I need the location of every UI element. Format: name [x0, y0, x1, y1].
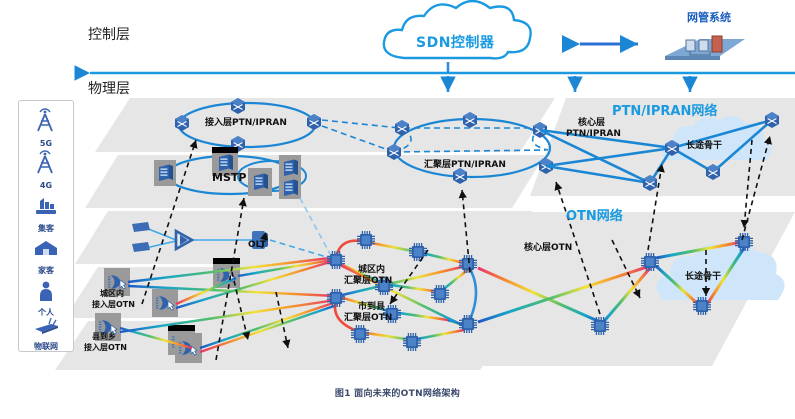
nms-server-icon — [665, 36, 745, 60]
iot-gateway-icon — [29, 315, 63, 337]
network-architecture-diagram — [0, 0, 795, 419]
figure-canvas: 控制层 物理层 SDN控制器 网管系统 PTN/IPRAN网络 OTN网络 接入… — [0, 0, 795, 419]
legend-item-enterprise[interactable]: 集客 — [19, 193, 73, 234]
legend-label-5g: 5G — [19, 139, 73, 148]
otn-access-urban-line1: 城区内 — [100, 290, 124, 299]
legend-item-home[interactable]: 家客 — [19, 237, 73, 276]
access-types-legend: 5G 4G 集客 家客 个人 — [18, 100, 74, 352]
ptn-aggregation-label: 汇聚层PTN/IPRAN — [424, 160, 506, 170]
mstp-label: MSTP — [212, 172, 246, 184]
ptn-access-label: 接入层PTN/IPRAN — [205, 118, 287, 128]
factory-icon — [29, 193, 63, 219]
ptn-core-label-line2: PTN/IPRAN — [566, 129, 621, 139]
figure-caption: 图1 面向未来的OTN网络架构 — [0, 386, 795, 399]
otn-agg-county-line2: 汇聚层OTN — [344, 313, 392, 323]
otn-access-county-line2: 接入层OTN — [84, 344, 127, 353]
physical-layer-label: 物理层 — [88, 82, 130, 98]
antenna-4g-icon — [31, 149, 61, 177]
otn-access-county-line1: 县到乡 — [92, 333, 116, 342]
nms-label: 网管系统 — [663, 12, 755, 24]
control-layer-label: 控制层 — [88, 28, 130, 44]
otn-agg-urban-line2: 汇聚层OTN — [344, 276, 392, 286]
otn-agg-county-line1: 市到县 — [358, 302, 385, 312]
legend-item-iot[interactable]: 物联网 — [19, 315, 73, 352]
legend-label-home: 家客 — [19, 265, 73, 276]
otn-core-label: 核心层OTN — [524, 243, 572, 253]
legend-label-enterprise: 集客 — [19, 223, 73, 234]
ptn-network-title: PTN/IPRAN网络 — [612, 105, 717, 120]
legend-label-4g: 4G — [19, 181, 73, 190]
otn-access-urban-line2: 接入层OTN — [92, 301, 135, 310]
legend-item-4g[interactable]: 4G — [19, 149, 73, 190]
antenna-5g-icon — [31, 107, 61, 135]
plane-down-arrows — [448, 76, 690, 92]
person-icon — [31, 279, 61, 303]
otn-network-title: OTN网络 — [566, 210, 623, 225]
legend-item-individual[interactable]: 个人 — [19, 279, 73, 318]
house-icon — [29, 237, 63, 261]
legend-item-5g[interactable]: 5G — [19, 107, 73, 148]
otn-agg-urban-line1: 城区内 — [358, 265, 385, 275]
otn-backbone-label: 长途骨干 — [685, 272, 721, 282]
sdn-controller-label: SDN控制器 — [416, 36, 494, 52]
olt-label: OLT — [248, 240, 266, 250]
ptn-backbone-label: 长途骨干 — [686, 141, 722, 151]
legend-label-iot: 物联网 — [19, 341, 73, 352]
ptn-core-label-line1: 核心层 — [578, 118, 605, 128]
